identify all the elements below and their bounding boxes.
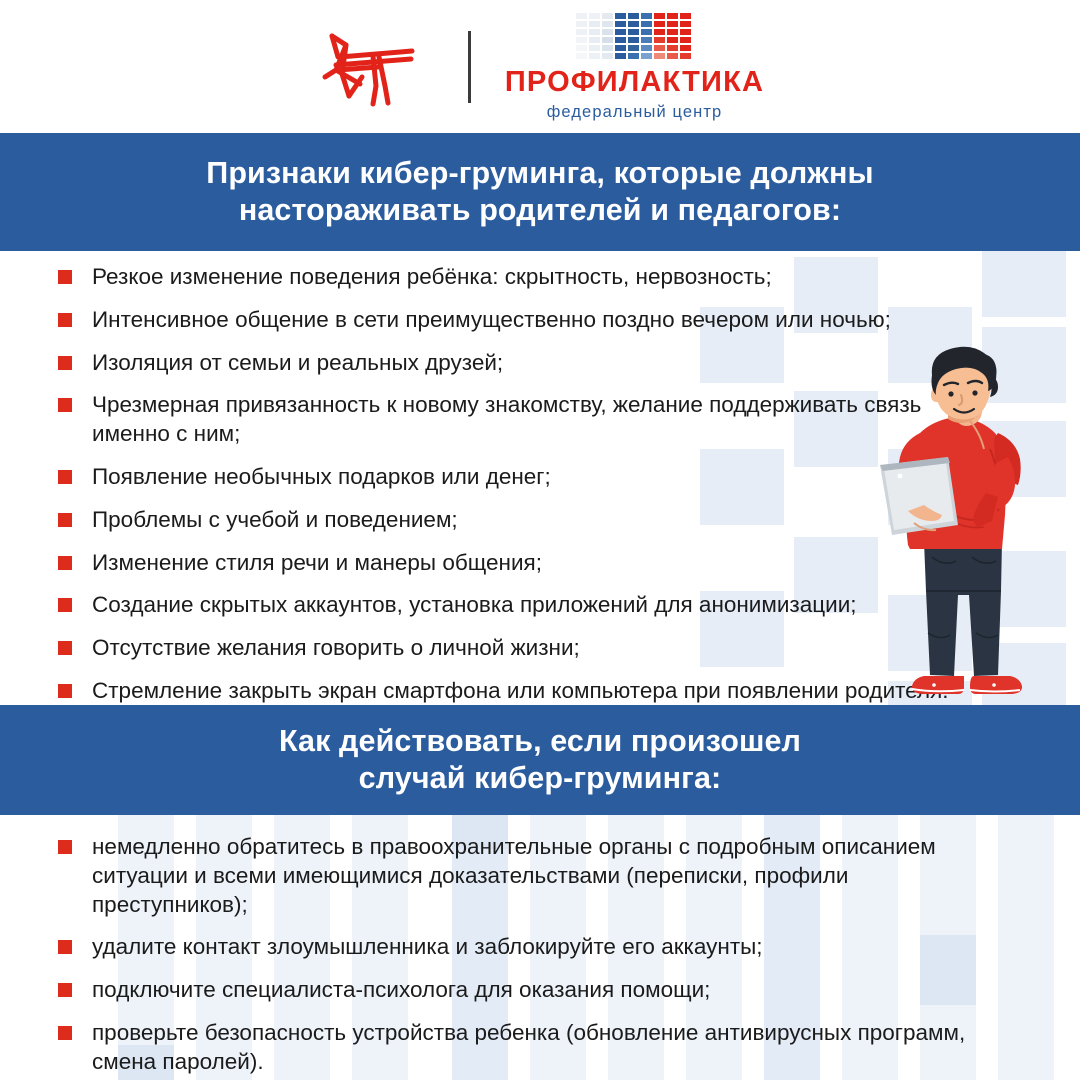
brand-subtitle: федеральный центр: [547, 104, 723, 121]
section-1-title-line2: настораживать родителей и педагогов:: [239, 193, 841, 227]
horse-line-mark-icon: [316, 24, 434, 110]
logo-bar: ПРОФИЛАКТИКА федеральный центр: [0, 0, 1080, 133]
actions-list: немедленно обратитесь в правоохранительн…: [0, 815, 1080, 1077]
list-item: Стремление закрыть экран смартфона или к…: [58, 677, 997, 705]
section-2-title-line2: случай кибер-груминга:: [359, 761, 722, 795]
brand-name: ПРОФИЛАКТИКА: [505, 68, 764, 97]
list-item: удалите контакт злоумышленника и заблоки…: [58, 933, 1007, 962]
list-item: немедленно обратитесь в правоохранительн…: [58, 833, 1007, 919]
actions-section: немедленно обратитесь в правоохранительн…: [0, 815, 1080, 1080]
list-item: Проблемы с учебой и поведением;: [58, 506, 997, 535]
brand-block: ПРОФИЛАКТИКА федеральный центр: [505, 13, 764, 121]
list-item: Создание скрытых аккаунтов, установка пр…: [58, 591, 997, 620]
list-item: Изменение стиля речи и манеры общения;: [58, 549, 997, 578]
section-2-title: Как действовать, если произошел случай к…: [209, 723, 871, 797]
section-2-title-line1: Как действовать, если произошел: [279, 724, 801, 758]
list-item: Чрезмерная привязанность к новому знаком…: [58, 391, 997, 449]
list-item: Отсутствие желания говорить о личной жиз…: [58, 634, 997, 663]
infographic-poster: ПРОФИЛАКТИКА федеральный центр Признаки …: [0, 0, 1080, 1080]
list-item: проверьте безопасность устройства ребенк…: [58, 1019, 1007, 1077]
list-item: подключите специалиста-психолога для ока…: [58, 976, 1007, 1005]
list-item: Появление необычных подарков или денег;: [58, 463, 997, 492]
signs-section: Резкое изменение поведения ребёнка: скры…: [0, 251, 1080, 705]
list-item: Интенсивное общение в сети преимуществен…: [58, 306, 997, 335]
section-header-actions: Как действовать, если произошел случай к…: [0, 705, 1080, 815]
section-1-title: Признаки кибер-груминга, которые должны …: [136, 155, 943, 229]
list-item: Резкое изменение поведения ребёнка: скры…: [58, 263, 997, 292]
pixel-grid-logo-icon: [576, 13, 694, 60]
section-header-signs: Признаки кибер-груминга, которые должны …: [0, 133, 1080, 251]
section-1-title-line1: Признаки кибер-груминга, которые должны: [206, 156, 873, 190]
list-item: Изоляция от семьи и реальных друзей;: [58, 349, 997, 378]
logo-divider: [468, 31, 471, 103]
signs-list: Резкое изменение поведения ребёнка: скры…: [0, 251, 1080, 705]
